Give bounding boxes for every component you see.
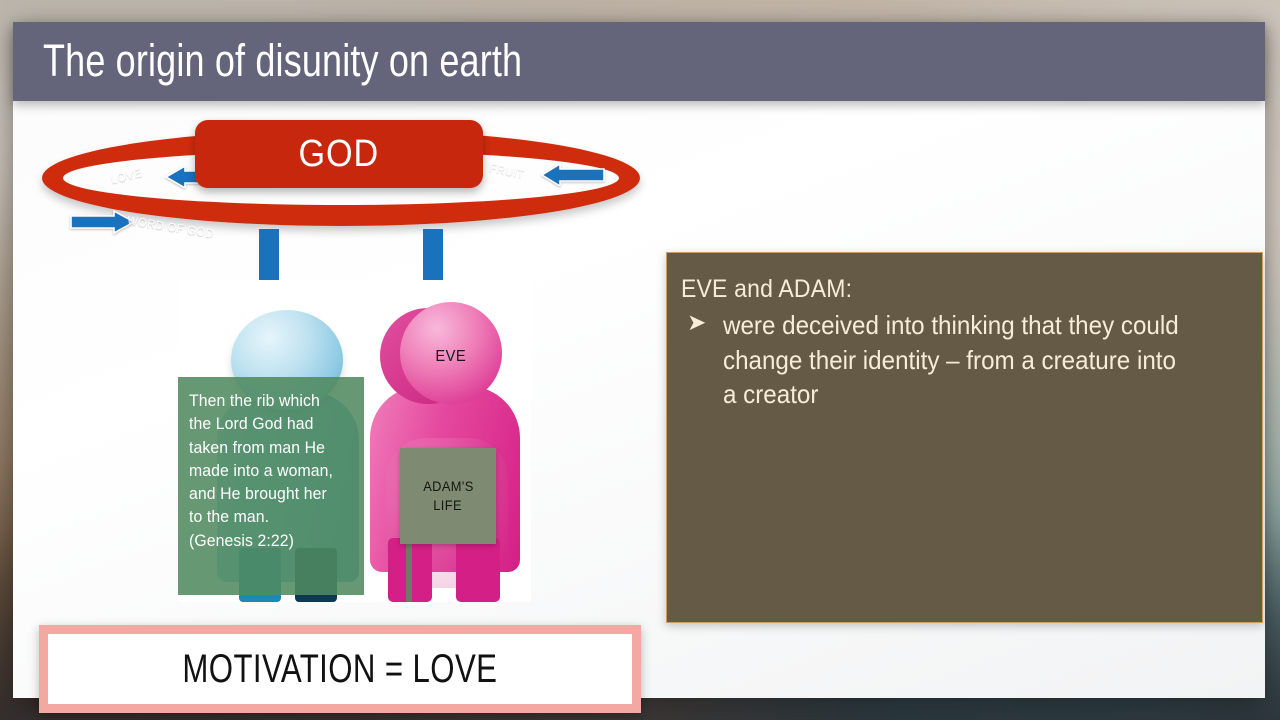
quote-line: taken from man He — [189, 436, 353, 459]
page-title-text: The origin of disunity on earth — [43, 34, 522, 86]
slide-title-bar: The origin of disunity on earth — [13, 22, 1265, 101]
fruit-arrow-icon — [540, 164, 606, 186]
slide-sheet: The origin of disunity on earth — [13, 22, 1265, 698]
bullet-arrow-icon: ➤ — [681, 308, 723, 337]
sign-line-1-text: ADAM'S — [423, 477, 473, 496]
explanation-heading-text: EVE and ADAM: — [681, 275, 852, 304]
quote-line: to the man. — [189, 505, 353, 528]
explanation-bullet-text: were deceived into thinking that they co… — [723, 308, 1213, 412]
bullet-line: were deceived into thinking that they co… — [723, 308, 1213, 343]
god-box: GOD — [195, 120, 483, 188]
quote-line: made into a woman, — [189, 459, 353, 482]
page-title: The origin of disunity on earth — [43, 34, 642, 86]
bullet-line: change their identity – from a creature … — [723, 343, 1213, 378]
god-label-text: GOD — [299, 133, 380, 176]
motivation-banner-text: MOTIVATION = LOVE — [183, 647, 498, 692]
quote-line: (Genesis 2:22) — [189, 529, 353, 552]
cycle-diagram: LOVE WORD OF GOD FRUIT GOD — [30, 122, 650, 242]
sign-line-2: LIFE — [432, 496, 463, 515]
sign-line-2-text: LIFE — [434, 496, 463, 515]
explanation-bullet: ➤ were deceived into thinking that they … — [681, 308, 1244, 412]
down-arrow-eve-stem — [423, 229, 443, 281]
slide-stage: The origin of disunity on earth — [0, 0, 1280, 720]
motivation-banner-inner: MOTIVATION = LOVE — [48, 634, 632, 704]
explanation-heading: EVE and ADAM: — [681, 275, 1244, 304]
eve-label: EVE — [400, 348, 502, 366]
adams-life-sign: ADAM'S LIFE — [400, 448, 496, 544]
down-arrow-adam-stem — [259, 229, 279, 281]
god-label: GOD — [294, 133, 384, 176]
motivation-banner-label: MOTIVATION = LOVE — [138, 647, 542, 692]
scripture-quote-box: Then the rib which the Lord God had take… — [178, 377, 364, 595]
quote-line: and He brought her — [189, 482, 353, 505]
quote-line: Then the rib which — [189, 389, 353, 412]
eve-leg-right — [456, 538, 500, 602]
eve-label-text: EVE — [436, 348, 467, 366]
sign-line-1: ADAM'S — [421, 477, 476, 496]
bullet-line: a creator — [723, 377, 1213, 412]
explanation-box: EVE and ADAM: ➤ were deceived into think… — [666, 252, 1263, 623]
motivation-banner: MOTIVATION = LOVE — [39, 625, 641, 713]
quote-line: the Lord God had — [189, 412, 353, 435]
eve-figure: EVE — [368, 286, 523, 602]
